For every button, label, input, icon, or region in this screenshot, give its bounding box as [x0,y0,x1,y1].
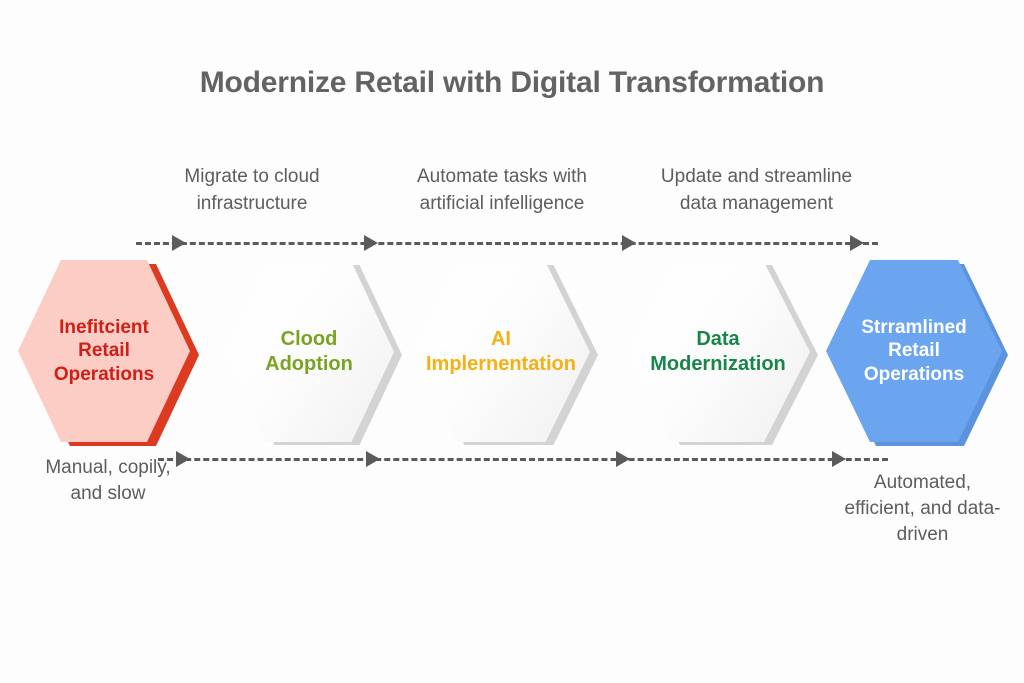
diagram-canvas: Modernize Retail with Digital Transforma… [0,0,1024,683]
process-flow-arrow-top [136,234,878,252]
arrowhead-icon [622,235,636,251]
stage-label: Clood Adoption [259,327,359,377]
bottom-caption-after-state: Automated, efficient, and data-driven [840,470,1005,548]
page-title: Modernize Retail with Digital Transforma… [0,66,1024,100]
top-caption-automate-tasks: Automate tasks with artificial infellige… [383,163,621,217]
bottom-caption-before-state: Manual, copily, and slow [38,455,178,507]
dashed-line [158,458,888,461]
arrowhead-icon [364,235,378,251]
arrowhead-icon [850,235,864,251]
arrowhead-icon [616,451,630,467]
dashed-line [136,242,878,245]
stage-label: Inefitcient Retail Operations [48,316,160,387]
process-flow-arrow-bottom [158,450,888,468]
arrowhead-icon [172,235,186,251]
top-caption-migrate-to-cloud: Migrate to cloud infrastructure [152,163,352,217]
stage-label: AI Implernentation [420,327,582,377]
top-caption-update-streamline-data: Update and streamline data management [659,163,854,217]
arrowhead-icon [832,451,846,467]
stage-label: Strramlined Retail Operations [855,316,973,387]
arrowhead-icon [176,451,190,467]
stage-label: Data Modernization [644,327,792,377]
arrowhead-icon [366,451,380,467]
